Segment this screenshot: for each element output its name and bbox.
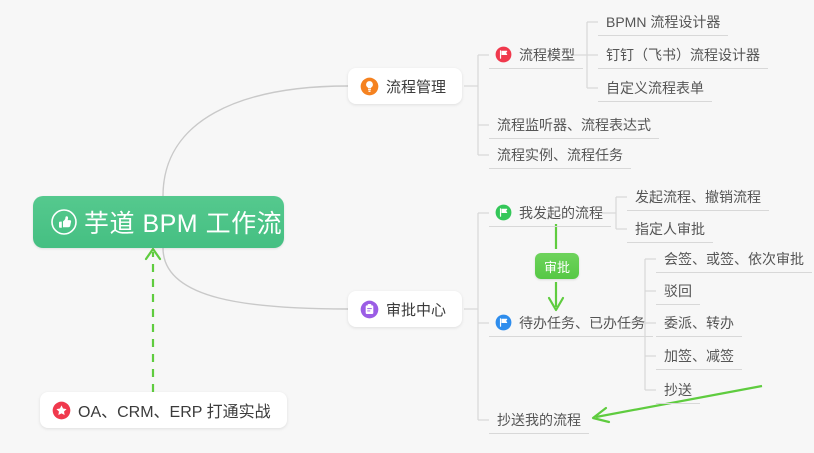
mindmap-canvas: 芋道 BPM 工作流 流程管理 流程模型 BPMN 流程设计器 钉钉（飞书）流程 xyxy=(0,0,814,453)
node-label: 流程监听器、流程表达式 xyxy=(497,115,651,135)
star-icon xyxy=(52,401,71,420)
bottom-tag-node[interactable]: OA、CRM、ERP 打通实战 xyxy=(40,392,287,428)
node-custom-process-form[interactable]: 自定义流程表单 xyxy=(598,74,712,102)
node-my-initiated[interactable]: 我发起的流程 xyxy=(489,199,611,227)
node-label: 会签、或签、依次审批 xyxy=(664,249,804,269)
branch-label: 审批中心 xyxy=(386,299,446,320)
flag-icon xyxy=(495,46,512,63)
node-cc[interactable]: 抄送 xyxy=(656,376,700,404)
node-label: 驳回 xyxy=(664,281,692,301)
node-label: 钉钉（飞书）流程设计器 xyxy=(606,45,760,65)
node-cc-to-me[interactable]: 抄送我的流程 xyxy=(489,406,589,434)
root-node[interactable]: 芋道 BPM 工作流 xyxy=(33,196,284,248)
annotation-dashed-arrow xyxy=(146,249,160,392)
node-label: 我发起的流程 xyxy=(519,203,603,223)
node-label: 流程模型 xyxy=(519,45,575,65)
link-root-to-approval-center xyxy=(163,248,348,309)
branch-label: 流程管理 xyxy=(386,76,446,97)
approval-flow-label: 审批 xyxy=(535,253,579,279)
node-label: 待办任务、已办任务 xyxy=(519,313,645,333)
lightbulb-icon xyxy=(360,77,379,96)
node-label: 指定人审批 xyxy=(635,219,705,239)
approval-flow-label-text: 审批 xyxy=(544,257,570,276)
node-process-model[interactable]: 流程模型 xyxy=(489,41,583,69)
node-assignee-approval[interactable]: 指定人审批 xyxy=(627,215,713,243)
node-label: 流程实例、流程任务 xyxy=(497,145,623,165)
node-label: BPMN 流程设计器 xyxy=(606,12,720,32)
node-label: 抄送 xyxy=(664,380,692,400)
link-root-to-process-management xyxy=(163,86,348,196)
node-delegate-transfer[interactable]: 委派、转办 xyxy=(656,309,742,337)
node-process-listener[interactable]: 流程监听器、流程表达式 xyxy=(489,111,659,139)
flag-icon xyxy=(495,314,512,331)
node-add-remove-sign[interactable]: 加签、减签 xyxy=(656,342,742,370)
node-label: 发起流程、撤销流程 xyxy=(635,187,761,207)
branch-approval-center[interactable]: 审批中心 xyxy=(348,291,462,327)
node-start-cancel-process[interactable]: 发起流程、撤销流程 xyxy=(627,183,769,211)
bottom-tag-label: OA、CRM、ERP 打通实战 xyxy=(78,398,271,422)
node-label: 委派、转办 xyxy=(664,313,734,333)
clipboard-icon xyxy=(360,300,379,319)
node-process-instance[interactable]: 流程实例、流程任务 xyxy=(489,141,631,169)
node-label: 加签、减签 xyxy=(664,346,734,366)
node-bpmn-designer[interactable]: BPMN 流程设计器 xyxy=(598,8,728,36)
root-node-label: 芋道 BPM 工作流 xyxy=(84,204,282,240)
branch-process-management[interactable]: 流程管理 xyxy=(348,68,462,104)
node-todo-done-tasks[interactable]: 待办任务、已办任务 xyxy=(489,309,653,337)
node-label: 自定义流程表单 xyxy=(606,78,704,98)
node-countersign[interactable]: 会签、或签、依次审批 xyxy=(656,245,812,273)
flag-icon xyxy=(495,204,512,221)
node-label: 抄送我的流程 xyxy=(497,410,581,430)
thumbs-up-icon xyxy=(51,209,77,235)
node-dingtalk-feishu-designer[interactable]: 钉钉（飞书）流程设计器 xyxy=(598,41,768,69)
node-reject[interactable]: 驳回 xyxy=(656,277,700,305)
